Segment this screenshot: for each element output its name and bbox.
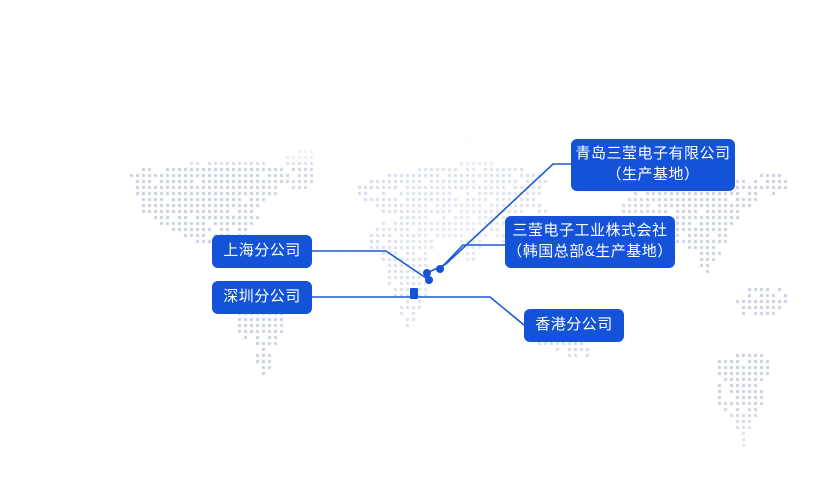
- callout-korea-line1: 三莹电子工业株式会社: [512, 221, 667, 242]
- marker-shenzhen[interactable]: [410, 288, 418, 299]
- callout-qingdao-line1: 青岛三莹电子有限公司: [575, 144, 730, 165]
- callout-shanghai-label: 上海分公司: [223, 241, 301, 262]
- map-figure: 青岛三莹电子有限公司 （生产基地） 三莹电子工业株式会社 （韩国总部&生产基地）…: [0, 0, 824, 480]
- world-map-canvas: [0, 0, 824, 480]
- callout-hongkong-label: 香港分公司: [535, 315, 613, 336]
- world-map-dots: [0, 0, 824, 480]
- callout-shanghai[interactable]: 上海分公司: [212, 235, 312, 268]
- marker-shanghai[interactable]: [425, 276, 433, 284]
- callout-qingdao[interactable]: 青岛三莹电子有限公司 （生产基地）: [571, 139, 735, 191]
- callout-hongkong[interactable]: 香港分公司: [524, 309, 624, 342]
- callout-shenzhen-label: 深圳分公司: [223, 287, 301, 308]
- callout-korea[interactable]: 三莹电子工业株式会社 （韩国总部&生产基地）: [505, 216, 675, 268]
- callout-korea-line2: （韩国总部&生产基地）: [507, 242, 673, 263]
- callout-shenzhen[interactable]: 深圳分公司: [212, 281, 312, 314]
- callout-qingdao-line2: （生产基地）: [606, 165, 699, 186]
- marker-korea[interactable]: [436, 265, 444, 273]
